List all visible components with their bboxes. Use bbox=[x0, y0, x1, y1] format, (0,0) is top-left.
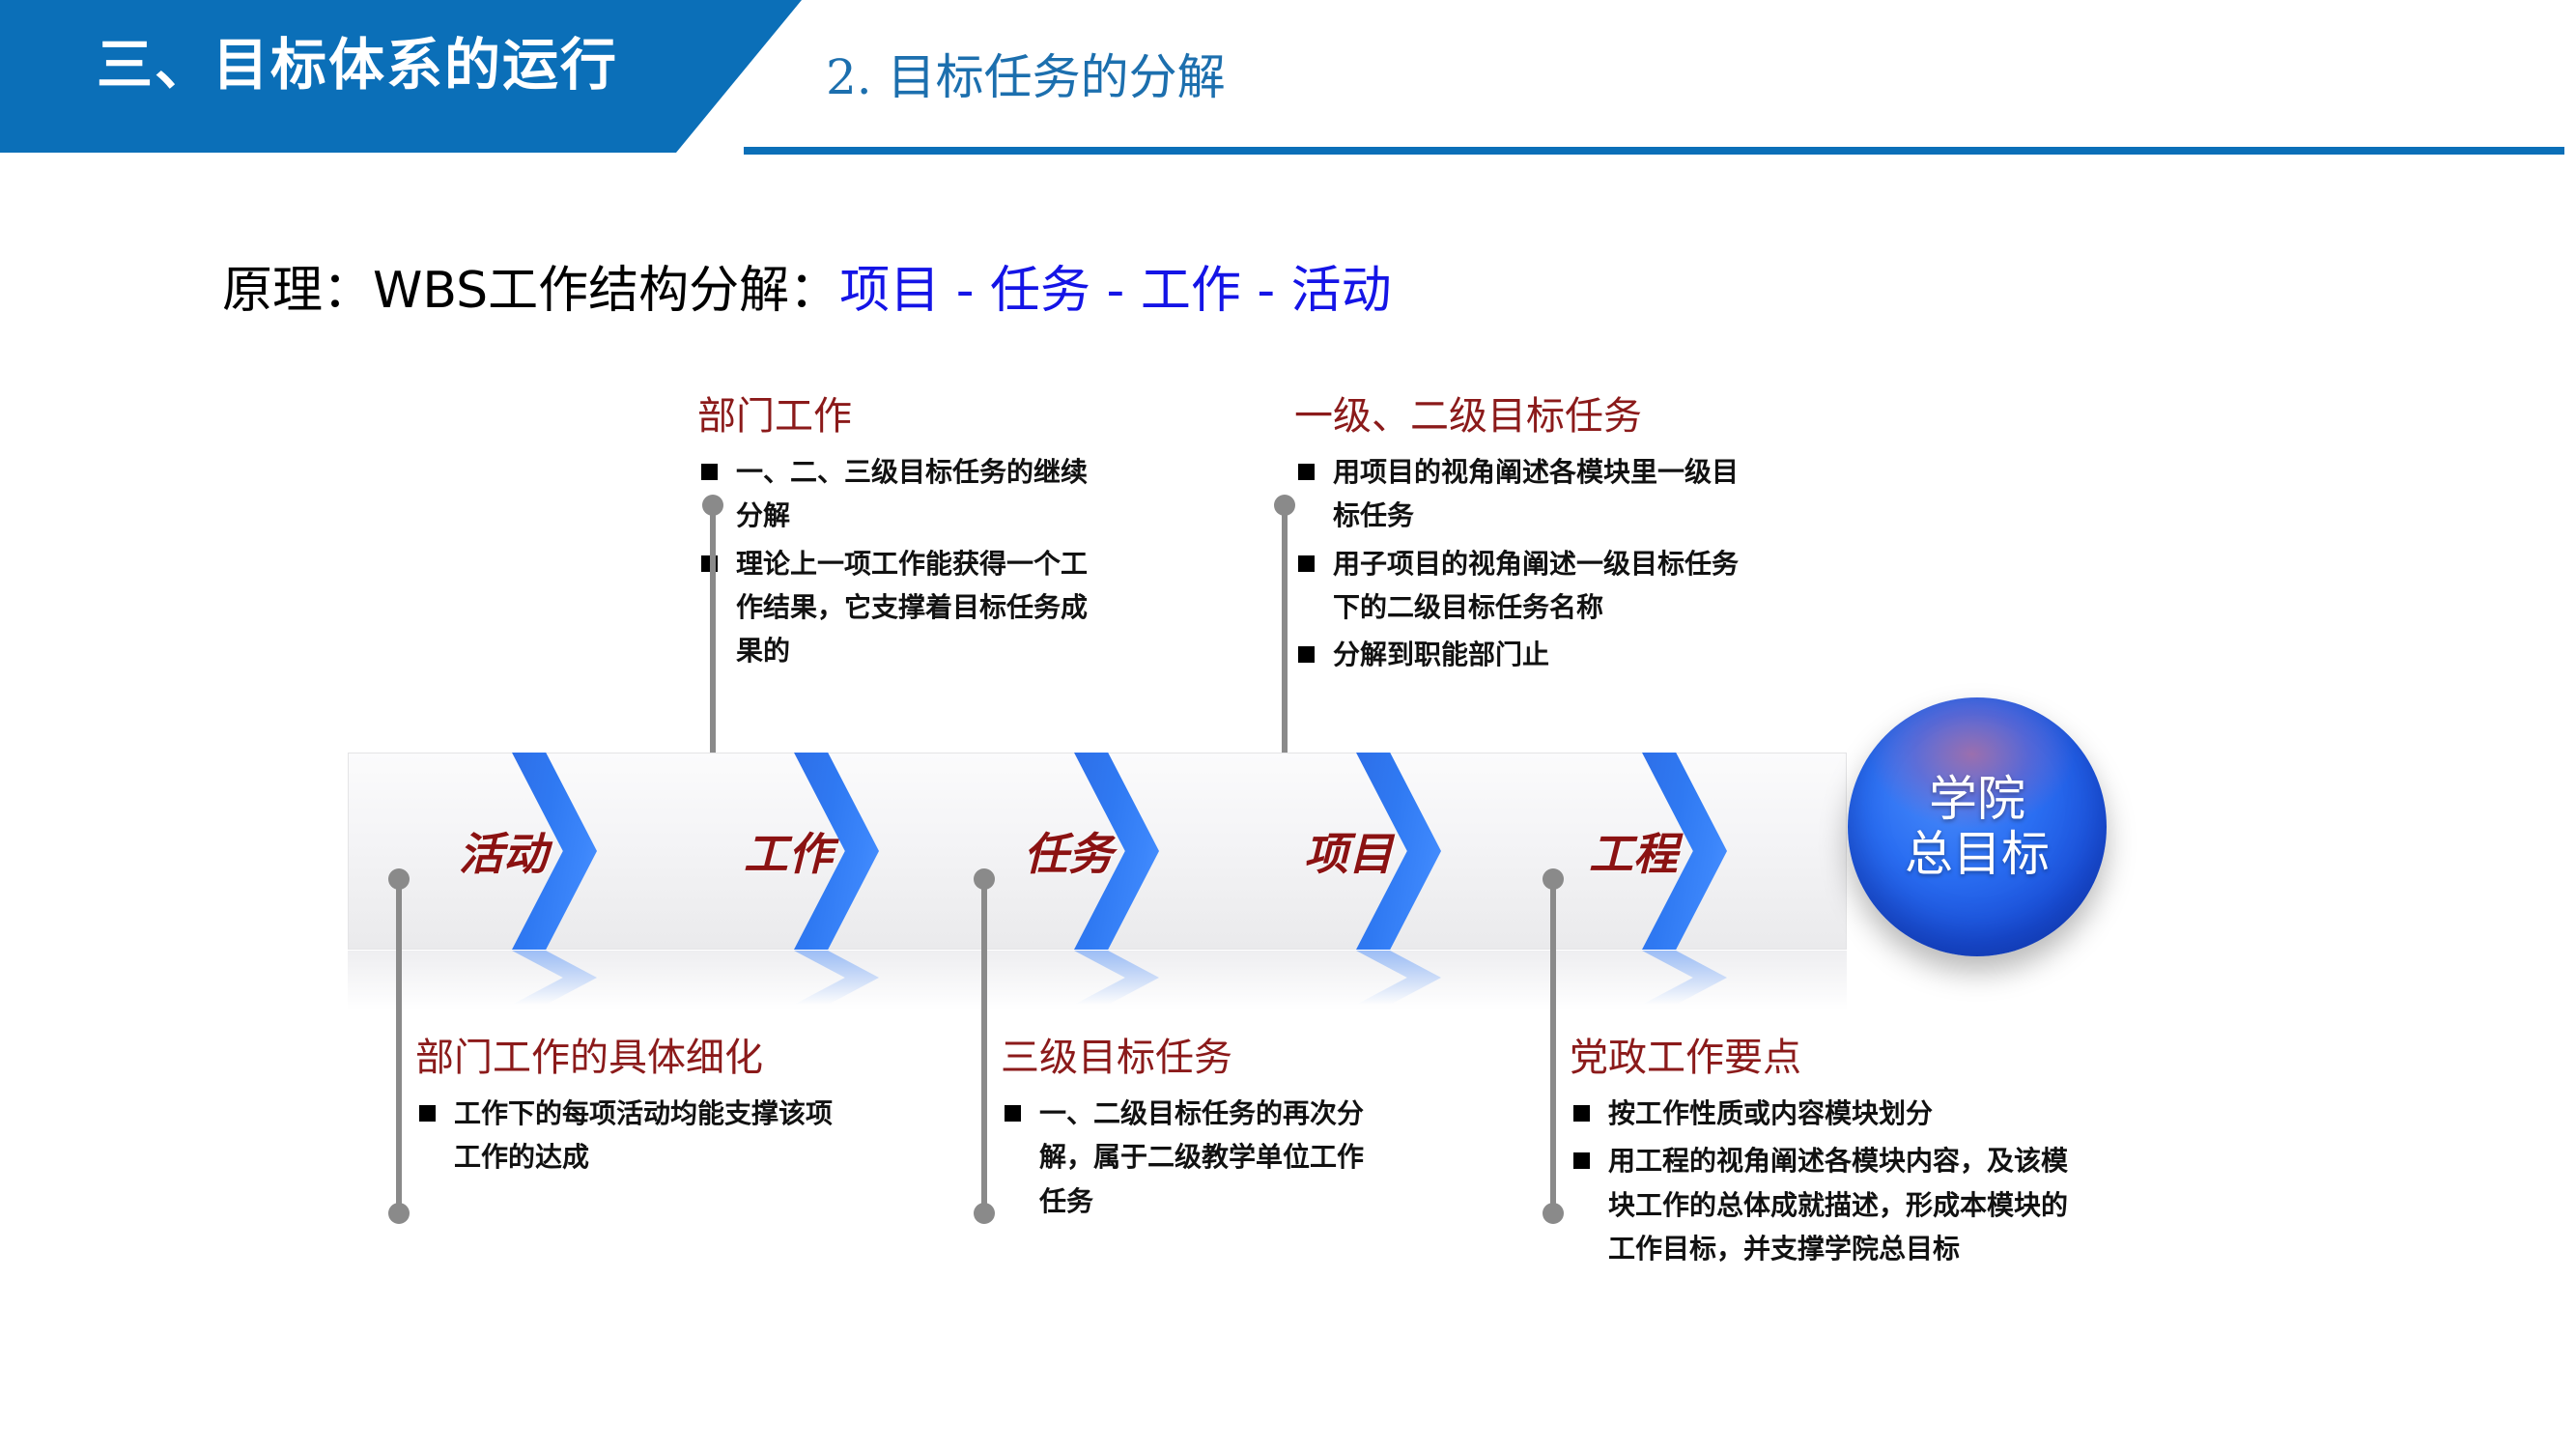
connector-bottom-right bbox=[1550, 877, 1556, 1215]
list-item: 一、二、三级目标任务的继续分解 bbox=[697, 450, 1113, 538]
connector-bottom-left bbox=[396, 877, 402, 1215]
chevron-reflection-3 bbox=[1074, 951, 1159, 1005]
annotation-top-left: 部门工作 一、二、三级目标任务的继续分解 理论上一项工作能获得一个工作结果，它支… bbox=[697, 384, 1113, 677]
list-item: 用工程的视角阐述各模块内容，及该模块工作的总体成就描述，形成本模块的工作目标，并… bbox=[1570, 1139, 2072, 1270]
annotation-heading: 一级、二级目标任务 bbox=[1294, 384, 1758, 441]
annotation-bullet-list: 一、二级目标任务的再次分解，属于二级教学单位工作任务 bbox=[1001, 1092, 1387, 1223]
list-item: 用项目的视角阐述各模块里一级目标任务 bbox=[1294, 450, 1758, 538]
list-item: 用子项目的视角阐述一级目标任务下的二级目标任务名称 bbox=[1294, 542, 1758, 630]
annotation-heading: 三级目标任务 bbox=[1001, 1026, 1387, 1082]
chevron-reflection-2 bbox=[794, 951, 879, 1005]
stage-label-5: 工程 bbox=[1589, 819, 1678, 883]
chevron-reflection-4 bbox=[1356, 951, 1441, 1005]
total-goal-line1: 学院 bbox=[1905, 772, 2050, 827]
page-title: 三、目标体系的运行 bbox=[97, 37, 618, 93]
annotation-heading: 部门工作的具体细化 bbox=[415, 1026, 840, 1082]
connector-bottom-mid bbox=[981, 877, 987, 1215]
total-goal-sphere: 学院 总目标 bbox=[1848, 697, 2107, 956]
principle-prefix: 原理：WBS工作结构分解： bbox=[222, 262, 839, 320]
connector-top-right bbox=[1282, 503, 1288, 766]
stage-label-2: 工作 bbox=[744, 819, 833, 883]
annotation-bottom-left: 部门工作的具体细化 工作下的每项活动均能支撑该项工作的达成 bbox=[415, 1026, 840, 1183]
connector-top-left bbox=[710, 503, 716, 766]
list-item: 分解到职能部门止 bbox=[1294, 633, 1758, 676]
list-item: 理论上一项工作能获得一个工作结果，它支撑着目标任务成果的 bbox=[697, 542, 1113, 673]
chevron-reflection-5 bbox=[1642, 951, 1727, 1005]
annotation-heading: 党政工作要点 bbox=[1570, 1026, 2072, 1082]
principle-line: 原理：WBS工作结构分解：项目 - 任务 - 工作 - 活动 bbox=[222, 249, 1392, 322]
principle-chain: 项目 - 任务 - 工作 - 活动 bbox=[839, 262, 1391, 320]
annotation-bottom-right: 党政工作要点 按工作性质或内容模块划分 用工程的视角阐述各模块内容，及该模块工作… bbox=[1570, 1026, 2072, 1274]
stage-label-3: 任务 bbox=[1024, 819, 1113, 883]
header-divider bbox=[744, 147, 2564, 155]
annotation-bottom-mid: 三级目标任务 一、二级目标任务的再次分解，属于二级教学单位工作任务 bbox=[1001, 1026, 1387, 1227]
list-item: 按工作性质或内容模块划分 bbox=[1570, 1092, 2072, 1135]
list-item: 工作下的每项活动均能支撑该项工作的达成 bbox=[415, 1092, 840, 1180]
total-goal-label: 学院 总目标 bbox=[1905, 772, 2050, 882]
stage-label-4: 项目 bbox=[1304, 819, 1393, 883]
annotation-bullet-list: 用项目的视角阐述各模块里一级目标任务 用子项目的视角阐述一级目标任务下的二级目标… bbox=[1294, 450, 1758, 677]
band-reflection bbox=[348, 951, 1847, 1010]
annotation-bullet-list: 工作下的每项活动均能支撑该项工作的达成 bbox=[415, 1092, 840, 1180]
chevron-reflection-1 bbox=[512, 951, 597, 1005]
annotation-bullet-list: 按工作性质或内容模块划分 用工程的视角阐述各模块内容，及该模块工作的总体成就描述… bbox=[1570, 1092, 2072, 1270]
list-item: 一、二级目标任务的再次分解，属于二级教学单位工作任务 bbox=[1001, 1092, 1387, 1223]
section-subtitle: 2. 目标任务的分解 bbox=[826, 39, 1226, 108]
annotation-bullet-list: 一、二、三级目标任务的继续分解 理论上一项工作能获得一个工作结果，它支撑着目标任… bbox=[697, 450, 1113, 673]
stage-label-1: 活动 bbox=[459, 819, 548, 883]
annotation-heading: 部门工作 bbox=[697, 384, 1113, 441]
annotation-top-right: 一级、二级目标任务 用项目的视角阐述各模块里一级目标任务 用子项目的视角阐述一级… bbox=[1294, 384, 1758, 681]
total-goal-line2: 总目标 bbox=[1905, 827, 2050, 882]
